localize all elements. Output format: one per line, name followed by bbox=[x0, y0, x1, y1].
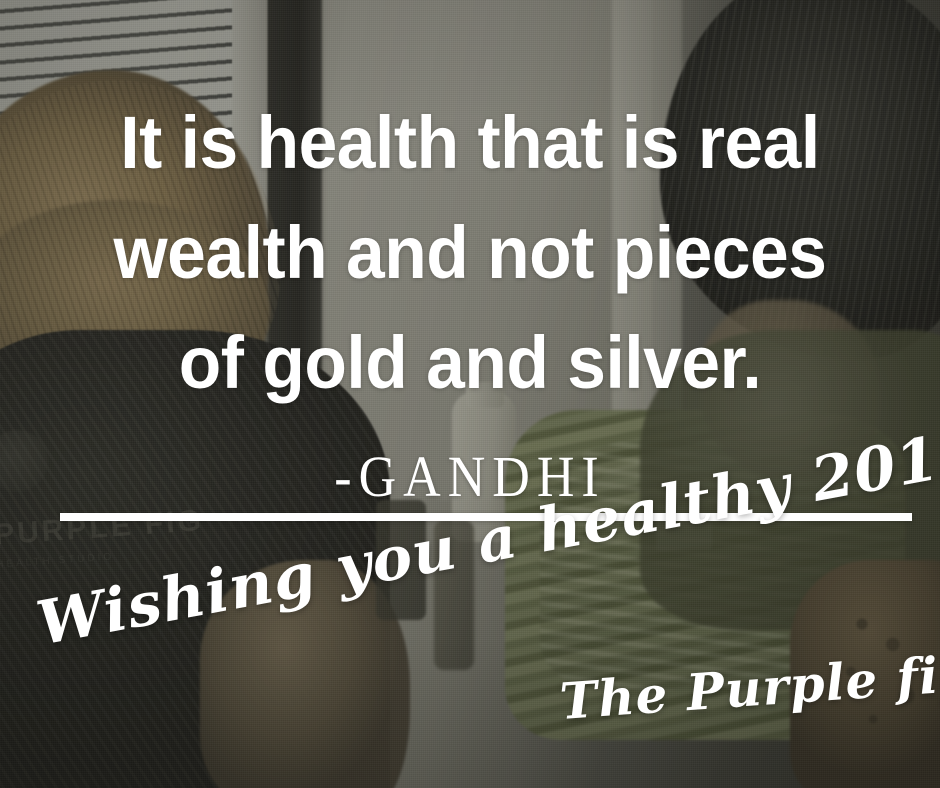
brand-signature: The Purple fig bbox=[558, 643, 940, 731]
quote-line-1: It is health that is real bbox=[28, 88, 912, 198]
quote-line-3: of gold and silver. bbox=[28, 308, 912, 418]
quote-line-2: wealth and not pieces bbox=[28, 198, 912, 308]
text-layer: It is health that is real wealth and not… bbox=[0, 0, 940, 788]
quote-text: It is health that is real wealth and not… bbox=[28, 88, 912, 418]
quote-poster: PURPLE FIG HEALTH STUDIO It is health th… bbox=[0, 0, 940, 788]
